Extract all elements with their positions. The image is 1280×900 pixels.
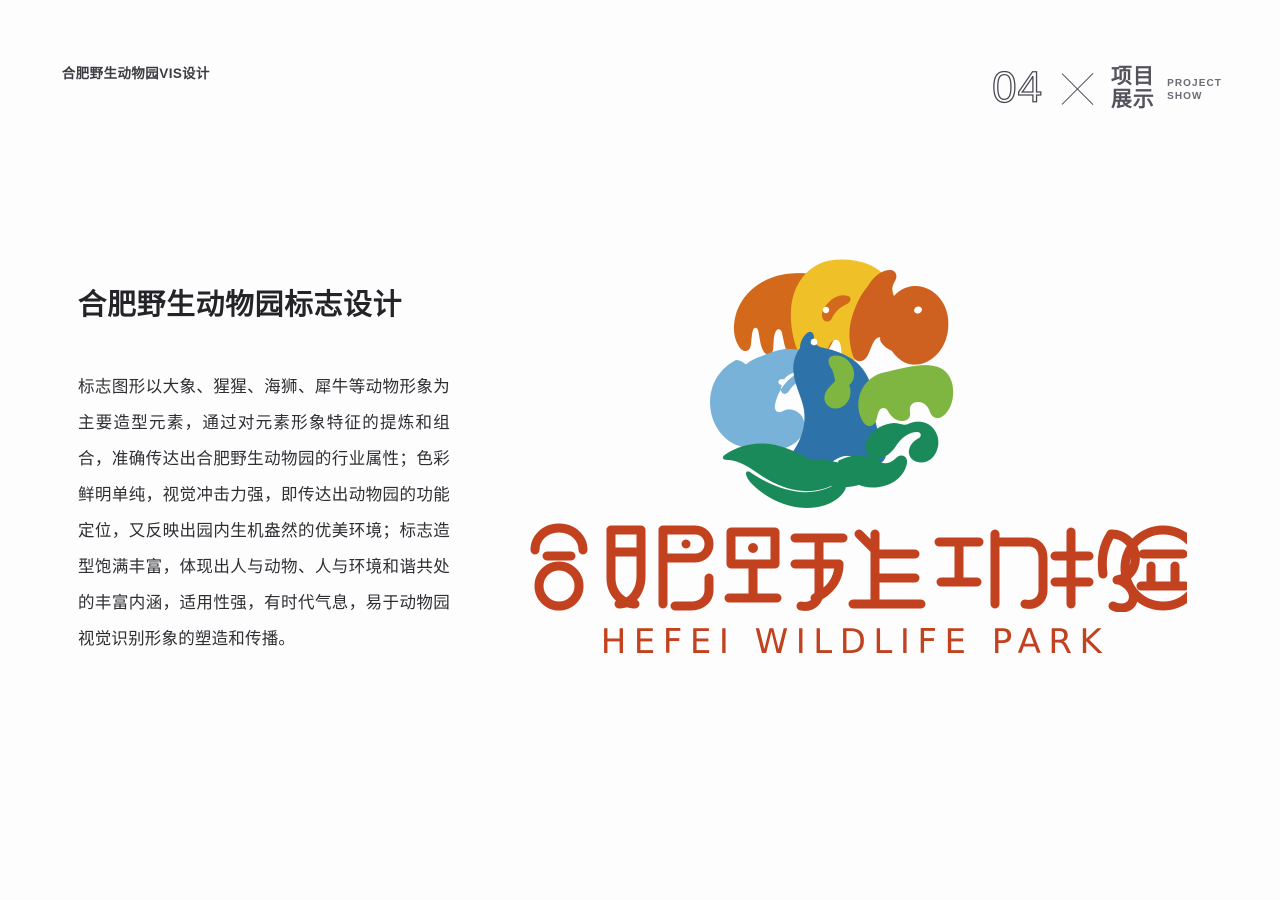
glyph-dong: [939, 534, 1043, 604]
glyph-ye: [729, 532, 843, 606]
section-title-en-line2: SHOW: [1167, 91, 1222, 104]
logo-wordmark-en: HEFEI WILDLIFE PARK: [555, 622, 1155, 662]
section-title-cn: 项目 展示: [1111, 66, 1155, 111]
section-title-cn-line2: 展示: [1111, 89, 1155, 112]
x-cross-icon: [1055, 67, 1099, 111]
slide-page: 合肥野生动物园VIS设计 04 项目 展示 PROJECT SHOW 合肥野生动…: [0, 0, 1280, 900]
logo-wordmark-cn: [523, 520, 1187, 612]
description-paragraph: 标志图形以大象、猩猩、海狮、犀牛等动物形象为主要造型元素，通过对元素形象特征的提…: [78, 369, 450, 657]
section-title-en-line1: PROJECT: [1167, 78, 1222, 91]
logo-lockup: HEFEI WILDLIFE PARK: [505, 248, 1205, 688]
document-title: 合肥野生动物园VIS设计: [62, 62, 210, 82]
section-marker: 04 项目 展示 PROJECT SHOW: [992, 58, 1222, 120]
logo-mark-icon: [690, 248, 980, 518]
glyph-sheng: [853, 534, 921, 604]
section-title-cn-line1: 项目: [1111, 66, 1155, 89]
section-title-en: PROJECT SHOW: [1167, 75, 1222, 103]
description-block: 合肥野生动物园标志设计 标志图形以大象、猩猩、海狮、犀牛等动物形象为主要造型元素…: [78, 288, 450, 657]
section-number: 04: [992, 66, 1043, 112]
page-title: 合肥野生动物园标志设计: [78, 288, 450, 323]
bear-shape: [858, 365, 953, 426]
glyph-fei: [611, 530, 709, 606]
glyph-he: [535, 528, 583, 606]
